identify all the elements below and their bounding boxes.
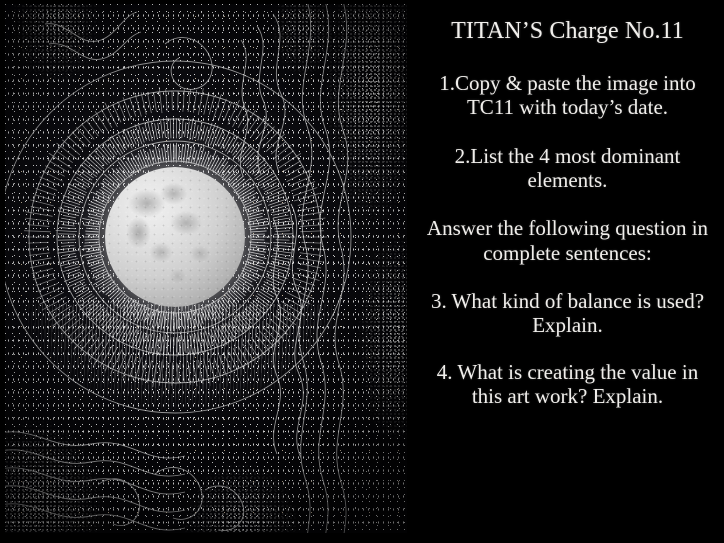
moon-graphic bbox=[105, 167, 245, 307]
page-title: TITAN’S Charge No.11 bbox=[451, 18, 684, 45]
task-item-1: 1.Copy & paste the image into TC11 with … bbox=[421, 71, 714, 120]
instructions-pane: TITAN’S Charge No.11 1.Copy & paste the … bbox=[411, 0, 724, 543]
task-item-4: 4. What is creating the value in this ar… bbox=[421, 360, 714, 409]
artwork-image bbox=[5, 4, 407, 533]
artwork-pane bbox=[0, 0, 411, 543]
moon-craters bbox=[105, 167, 245, 307]
slide-canvas: TITAN’S Charge No.11 1.Copy & paste the … bbox=[0, 0, 724, 543]
task-item-2: 2.List the 4 most dominant elements. bbox=[421, 144, 714, 193]
answer-instruction: Answer the following question in complet… bbox=[421, 216, 714, 265]
task-item-3: 3. What kind of balance is used? Explain… bbox=[421, 289, 714, 338]
artwork-hatch-curtain bbox=[15, 304, 345, 504]
